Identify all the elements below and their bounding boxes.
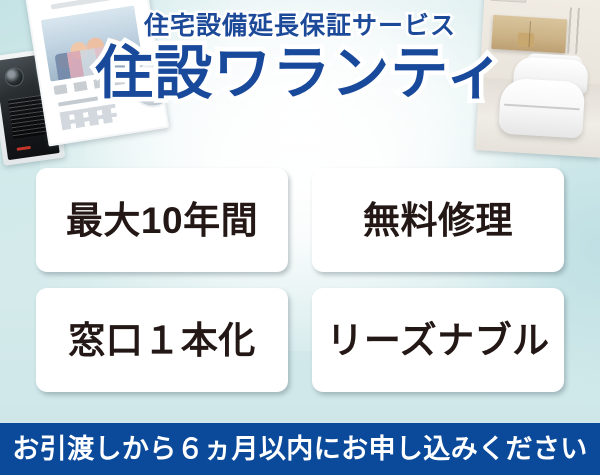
monitor-top-bar [51, 0, 113, 10]
feature-card: 最大10年間 [36, 168, 288, 272]
promo-banner: 住宅設備延長保証サービス 住設ワランティ 最大10年間 無料修理 窓口１本化 リ… [0, 0, 600, 475]
feature-label: リーズナブル [326, 322, 549, 359]
service-subtitle: 住宅設備延長保証サービス [0, 14, 600, 39]
feature-label: 最大10年間 [66, 202, 258, 239]
monitor-keypad [60, 104, 118, 131]
feature-card-grid: 最大10年間 無料修理 窓口１本化 リーズナブル [36, 168, 564, 392]
station-led-indicator [17, 146, 31, 151]
header-text-block: 住宅設備延長保証サービス 住設ワランティ [0, 14, 600, 104]
feature-label: 無料修理 [363, 202, 513, 239]
cta-text: お引渡しから６ヵ月以内にお申し込みください [12, 436, 587, 463]
service-title: 住設ワランティ [0, 43, 600, 104]
cta-banner: お引渡しから６ヵ月以内にお申し込みください [0, 423, 600, 475]
feature-card: リーズナブル [312, 288, 564, 392]
feature-card: 無料修理 [312, 168, 564, 272]
feature-label: 窓口１本化 [68, 322, 256, 359]
feature-card: 窓口１本化 [36, 288, 288, 392]
